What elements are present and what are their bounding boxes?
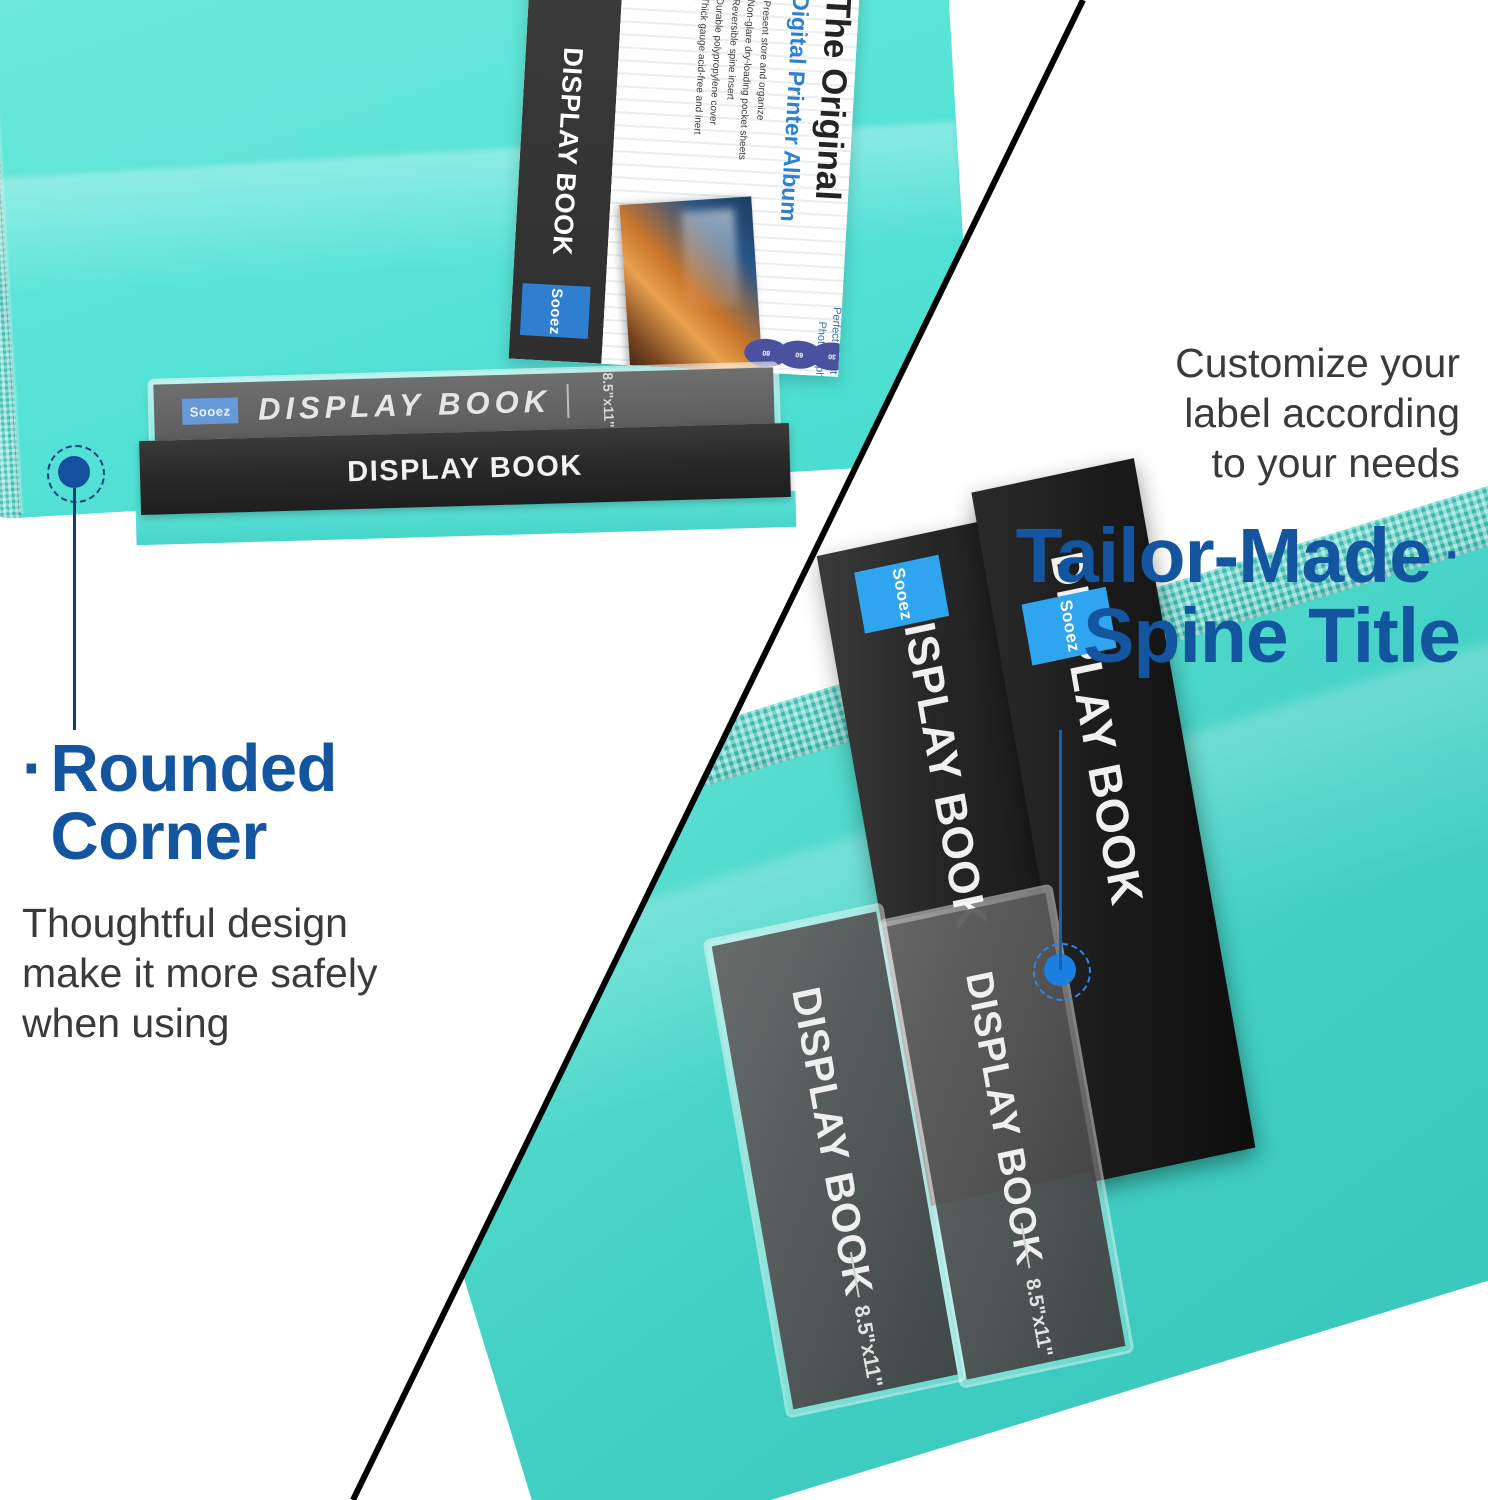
brand-logo-text: Sooez (189, 403, 230, 419)
infographic-canvas: DISPLAY BOOK Sooez The Original Digital … (0, 0, 1488, 1500)
callout-body-left: Thoughtful design make it more safely wh… (22, 898, 582, 1048)
insert-front-face: The Original Digital Printer Album Perfe… (601, 0, 861, 377)
callout-bullet-left: · (22, 735, 44, 803)
brand-logo-insert: Sooez (520, 283, 591, 339)
callout-body-right: Customize your label according to your n… (860, 338, 1460, 488)
spine-label-title: DISPLAY BOOK (956, 967, 1050, 1269)
callout-body-line: when using (22, 998, 582, 1048)
callout-headline-right-line2: Spine Title (860, 596, 1460, 676)
spine-label-size: 8.5"x11" (1020, 1277, 1056, 1360)
spine-label-title: DISPLAY BOOK (782, 984, 880, 1301)
insert-sample-photo (619, 196, 763, 376)
spine-label-size: 8.5"x11" (849, 1303, 887, 1390)
callout-headline-right: Tailor-Made · Spine Title (860, 516, 1460, 676)
callout-body-line: Thoughtful design (22, 898, 582, 948)
callout-leader-line-left (73, 488, 76, 730)
callout-bullet-right: · (1445, 531, 1460, 581)
callout-leader-line-right (1059, 730, 1062, 970)
callout-headline-right-line1: Tailor-Made (1016, 516, 1431, 596)
spine-label-title: DISPLAY BOOK (258, 384, 552, 428)
insert-feature-list: · Present store and organize · Non-glare… (688, 0, 775, 161)
product-insert-card: DISPLAY BOOK Sooez The Original Digital … (509, 0, 862, 377)
brand-logo-spine: Sooez (182, 397, 239, 425)
callout-dot (58, 456, 90, 488)
callout-body-line: Customize your (860, 338, 1460, 388)
cover-title-text: DISPLAY BOOK (347, 449, 583, 489)
callout-body-line: make it more safely (22, 948, 582, 998)
callout-body-line: to your needs (860, 438, 1460, 488)
insert-rotated-content: The Original Digital Printer Album Perfe… (601, 0, 861, 377)
callout-headline-left-line1: Rounded (50, 735, 337, 803)
spine-label-size: 8.5"x11" (600, 372, 618, 428)
insert-title: The Original (810, 0, 856, 201)
insert-spine-text: DISPLAY BOOK (545, 46, 588, 256)
callout-headline-left-line2: Corner (50, 803, 337, 871)
callout-text-left: · Rounded Corner Thoughtful design make … (22, 735, 582, 1048)
callout-text-right: Customize your label according to your n… (860, 338, 1460, 676)
brand-logo-text: Sooez (545, 287, 565, 335)
spine-label-divider (567, 384, 570, 418)
callout-body-line: label according (860, 388, 1460, 438)
